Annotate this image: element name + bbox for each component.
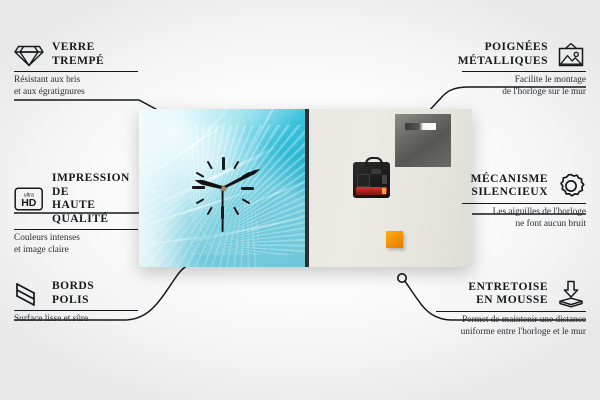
callout-header: VERRE TREMPÉ <box>14 41 138 68</box>
callout-header: ENTRETOISE EN MOUSSE <box>436 280 586 308</box>
callout-bords-polis: BORDS POLIS Surface lisse et sûre <box>14 280 138 326</box>
foam-spacer <box>386 231 403 248</box>
infographic-canvas: VERRE TREMPÉ Résistant aux bris et aux é… <box>0 0 600 400</box>
diamond-icon <box>14 43 44 67</box>
ultra-hd-icon: ultra HD <box>14 186 44 212</box>
callout-rule <box>436 311 586 312</box>
battery-positive-tip <box>382 188 386 194</box>
callout-rule <box>462 71 586 72</box>
callout-verre-trempe: VERRE TREMPÉ Résistant aux bris et aux é… <box>14 41 138 98</box>
battery <box>356 187 387 195</box>
callout-subtitle: Les aiguilles de l'horloge ne font aucun… <box>462 207 586 230</box>
hanger-keyhole-slot <box>405 123 436 130</box>
callout-title: BORDS POLIS <box>52 280 94 307</box>
callout-header: ultra HD IMPRESSION DE HAUTE QUALITÉ <box>14 172 138 226</box>
mechanism-detail <box>371 169 381 174</box>
gear-icon <box>556 172 586 200</box>
callout-subtitle: Facilite le montage de l'horloge sur le … <box>462 75 586 98</box>
callout-subtitle: Surface lisse et sûre <box>14 314 138 325</box>
callout-mecanisme-silencieux: MÉCANISME SILENCIEUX Les aiguilles de l'… <box>462 172 586 230</box>
callout-rule <box>14 310 138 311</box>
callout-title: IMPRESSION DE HAUTE QUALITÉ <box>52 172 138 226</box>
mechanism-hanging-loop <box>365 157 383 167</box>
clock-back-panel <box>309 109 472 267</box>
callout-header: POIGNÉES MÉTALLIQUES <box>462 41 586 68</box>
callout-subtitle: Permet de maintenir une distance uniform… <box>436 315 586 338</box>
metal-hanger-plate <box>395 114 451 167</box>
product-image <box>139 109 472 267</box>
callout-subtitle: Résistant aux bris et aux égratignures <box>14 75 138 98</box>
callout-title: POIGNÉES MÉTALLIQUES <box>458 41 548 68</box>
clock-second-hand <box>222 188 224 232</box>
callout-subtitle: Couleurs intenses et image claire <box>14 233 138 256</box>
glass-clock-face <box>139 109 307 267</box>
mechanism-detail <box>357 174 370 187</box>
callout-title: MÉCANISME SILENCIEUX <box>471 173 548 200</box>
mechanism-detail <box>382 175 387 184</box>
clock-center-pivot <box>221 186 226 191</box>
polished-edges-icon <box>14 281 44 307</box>
clock-dial <box>139 109 307 267</box>
callout-rule <box>14 229 138 230</box>
clock-mechanism-box <box>353 162 390 198</box>
callout-entretoise-en-mousse: ENTRETOISE EN MOUSSE Permet de maintenir… <box>436 280 586 338</box>
callout-title: VERRE TREMPÉ <box>52 41 104 68</box>
svg-text:HD: HD <box>21 197 37 209</box>
callout-header: MÉCANISME SILENCIEUX <box>462 172 586 200</box>
callout-impression-haute-qualite: ultra HD IMPRESSION DE HAUTE QUALITÉ Cou… <box>14 172 138 256</box>
callout-title: ENTRETOISE EN MOUSSE <box>468 281 548 308</box>
wall-hanger-icon <box>556 42 586 68</box>
callout-rule <box>462 203 586 204</box>
callout-header: BORDS POLIS <box>14 280 138 307</box>
callout-poignees-metalliques: POIGNÉES MÉTALLIQUES Facilite le montage… <box>462 41 586 98</box>
callout-rule <box>14 71 138 72</box>
foam-spacer-icon <box>556 280 586 308</box>
connector-dot-entretoise <box>398 274 406 282</box>
